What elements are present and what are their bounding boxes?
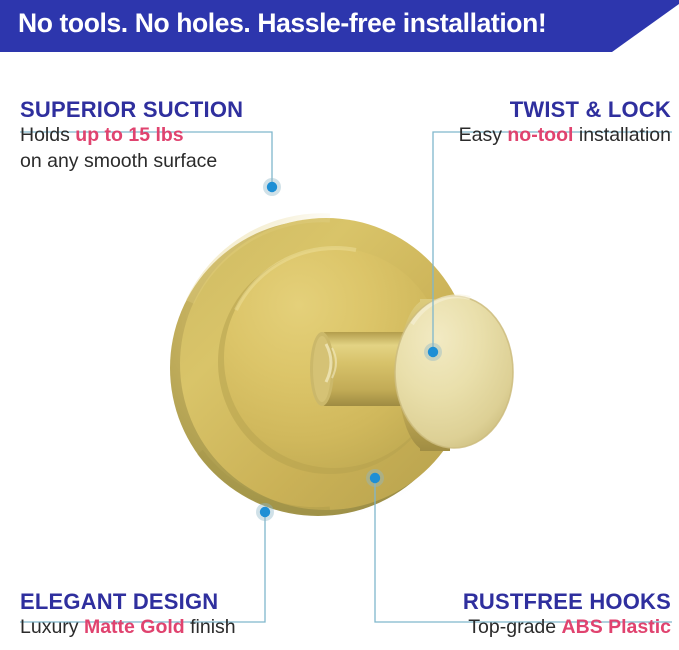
callout-body-text-prefix: Holds	[20, 124, 75, 146]
callout-body-rustfree-hooks: Top-grade ABS Plastic	[463, 615, 671, 641]
callout-body-text-prefix: Luxury	[20, 616, 84, 638]
callout-body-highlight: ABS Plastic	[562, 616, 671, 638]
callout-title-twist-and-lock: TWIST & LOCK	[459, 98, 671, 123]
callout-body-text-prefix: Easy	[459, 124, 508, 146]
callout-superior-suction: SUPERIOR SUCTION Holds up to 15 lbs on a…	[20, 98, 243, 174]
callout-body-elegant-design: Luxury Matte Gold finish	[20, 615, 236, 641]
callout-body-text-prefix: Top-grade	[468, 616, 561, 638]
callout-body-highlight: up to 15 lbs	[75, 124, 183, 146]
callout-title-superior-suction: SUPERIOR SUCTION	[20, 98, 243, 123]
callout-rustfree-hooks: RUSTFREE HOOKS Top-grade ABS Plastic	[463, 590, 671, 641]
callout-title-rustfree-hooks: RUSTFREE HOOKS	[463, 590, 671, 615]
callout-title-elegant-design: ELEGANT DESIGN	[20, 590, 236, 615]
callout-body-highlight: Matte Gold	[84, 616, 185, 638]
callout-twist-and-lock: TWIST & LOCK Easy no-tool installation	[459, 98, 671, 149]
callout-body-superior-suction: Holds up to 15 lbs	[20, 123, 243, 149]
headline-banner-text: No tools. No holes. Hassle-free installa…	[18, 8, 546, 39]
product-infographic: No tools. No holes. Hassle-free installa…	[0, 0, 679, 650]
callout-elegant-design: ELEGANT DESIGN Luxury Matte Gold finish	[20, 590, 236, 641]
callout-body-text-suffix: finish	[185, 616, 236, 638]
headline-banner: No tools. No holes. Hassle-free installa…	[0, 0, 679, 52]
callout-body-highlight: no-tool	[507, 124, 573, 146]
callout-body-twist-and-lock: Easy no-tool installation	[459, 123, 671, 149]
callout-body-line2-superior-suction: on any smooth surface	[20, 149, 243, 175]
callout-body-text-suffix: installation	[573, 124, 671, 146]
